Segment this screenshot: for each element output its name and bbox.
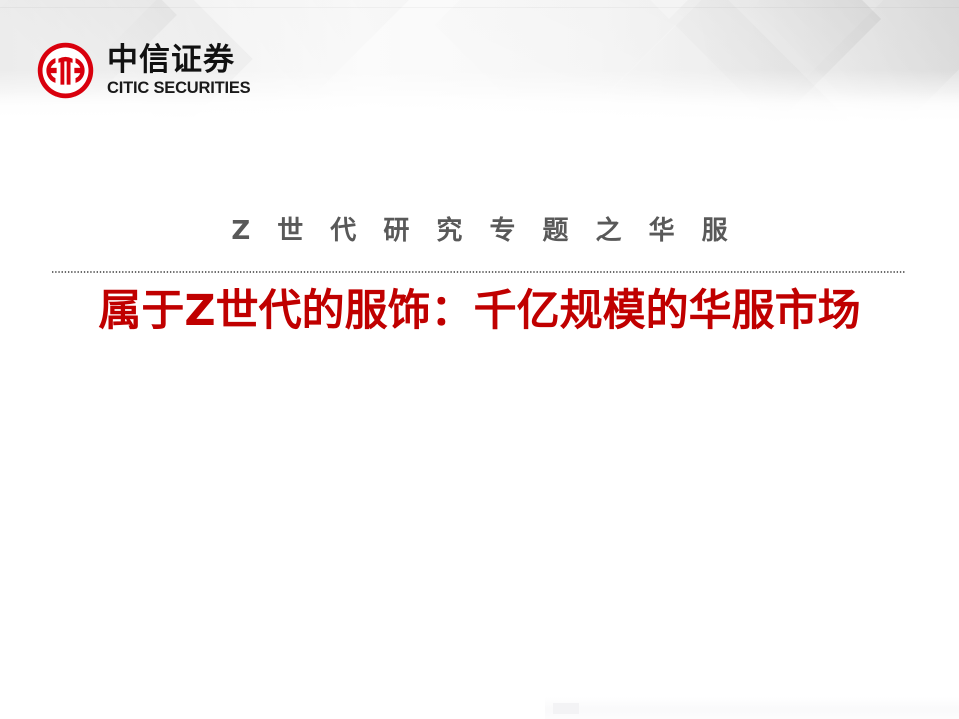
header-facet-shape [753,0,959,122]
header-facet-shape [758,0,959,122]
header-facet-shape [435,0,675,122]
brand-name-en: CITIC SECURITIES [107,80,250,97]
title-block: Z 世 代 研 究 专 题 之 华 服 属于Z世代的服饰：千亿规模的华服市场 [0,214,959,249]
header-facet-shape [669,0,881,122]
footer-faint-band [545,697,959,719]
brand-name-cn: 中信证券 [107,44,250,77]
slide-canvas: 中信证券 CITIC SECURITIES Z 世 代 研 究 专 题 之 华 … [0,0,959,719]
brand-logo-lockup: 中信证券 CITIC SECURITIES [36,41,250,100]
dotted-divider [52,271,906,273]
brand-wordmark: 中信证券 CITIC SECURITIES [107,44,250,96]
report-series-subtitle: Z 世 代 研 究 专 题 之 华 服 [0,214,959,249]
report-main-title: 属于Z世代的服饰：千亿规模的华服市场 [0,285,959,339]
header-facet-shape [552,0,877,122]
citic-circle-logo-icon [36,41,95,100]
